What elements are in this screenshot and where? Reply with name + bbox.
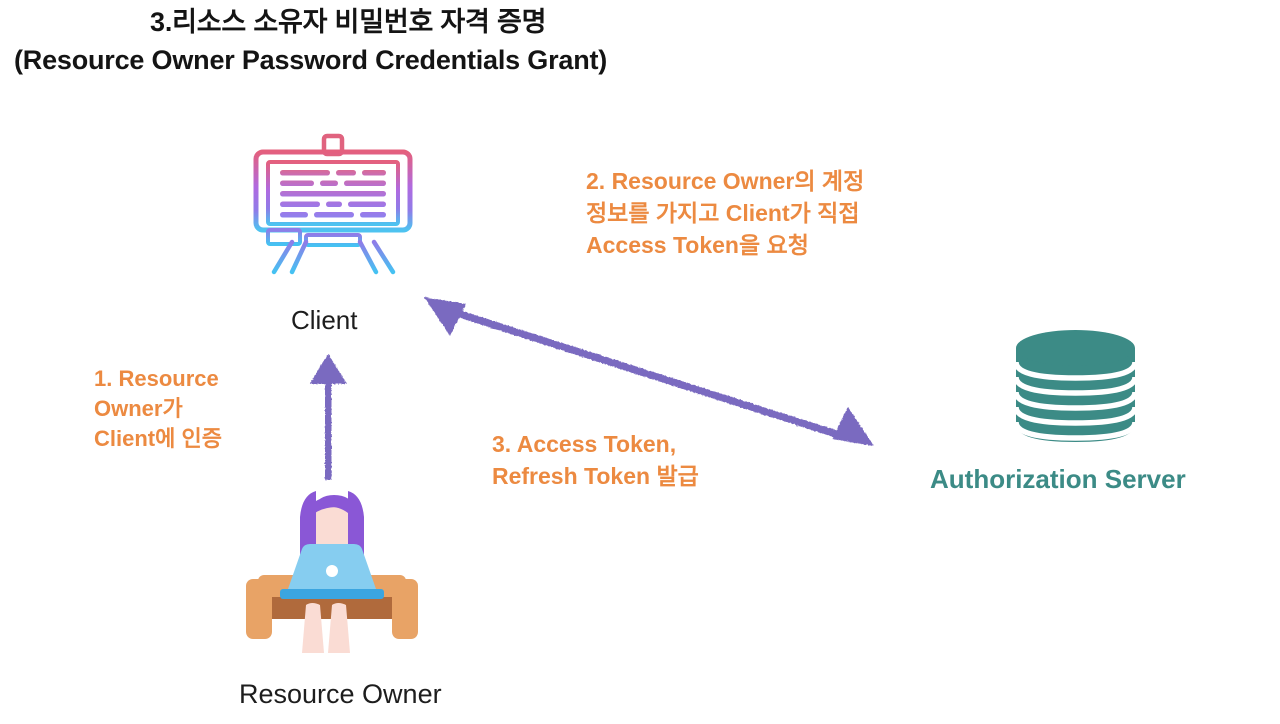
authorization-server-label: Authorization Server (930, 462, 1186, 496)
database-stack-icon (1008, 326, 1143, 446)
authorization-server-node[interactable] (1008, 326, 1143, 446)
presentation-board-icon (248, 132, 418, 277)
annotation-step-2: 2. Resource Owner의 계정 정보를 가지고 Client가 직접… (586, 165, 986, 261)
person-on-couch-with-laptop-icon (236, 487, 428, 657)
diagram-canvas: 3.리소스 소유자 비밀번호 자격 증명 (Resource Owner Pas… (0, 0, 1280, 724)
resource-owner-node[interactable] (236, 487, 428, 657)
annotation-step-3: 3. Access Token, Refresh Token 발급 (492, 428, 822, 492)
client-label: Client (291, 304, 357, 336)
client-node[interactable] (248, 132, 418, 277)
annotation-step-1: 1. Resource Owner가 Client에 인증 (94, 364, 314, 454)
title-line-korean: 3.리소스 소유자 비밀번호 자격 증명 (0, 4, 1280, 40)
title-line-english: (Resource Owner Password Credentials Gra… (0, 42, 1280, 78)
resource-owner-label: Resource Owner (239, 678, 442, 710)
page-title: 3.리소스 소유자 비밀번호 자격 증명 (Resource Owner Pas… (0, 4, 1280, 78)
